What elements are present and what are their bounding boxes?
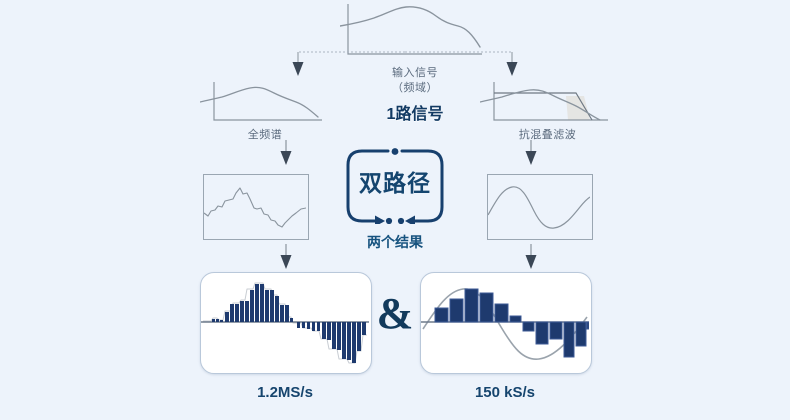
low-rate-label: 150 kS/s [420,384,590,401]
full-spectrum-caption: 全频谱 [200,126,330,142]
input-caption-line2: （频域） [345,81,485,96]
right-arrow-to-sine-box [523,140,539,166]
input-signal-title: 1路信号 [345,100,485,124]
anti-alias-filter-plot [480,80,615,128]
diagram-canvas: 输入信号 （频域） 1路信号 全频谱 [0,0,790,420]
dual-path-label: 双路径 [345,164,445,198]
ampersand-separator: & [375,292,415,336]
full-spectrum-plot [200,80,330,128]
high-rate-label: 1.2MS/s [200,384,370,401]
low-rate-panel [420,272,592,374]
top-split-connector [280,38,530,80]
right-arrow-to-panel [523,244,539,270]
high-rate-panel [200,272,372,374]
dual-path-badge: 双路径 [345,148,445,224]
two-results-label: 两个结果 [340,232,450,252]
noisy-waveform-box [203,174,309,240]
clean-sine-box [487,174,593,240]
left-arrow-to-panel [278,244,294,270]
left-arrow-to-time-box [278,140,294,166]
anti-alias-filter-caption: 抗混叠滤波 [480,126,615,142]
